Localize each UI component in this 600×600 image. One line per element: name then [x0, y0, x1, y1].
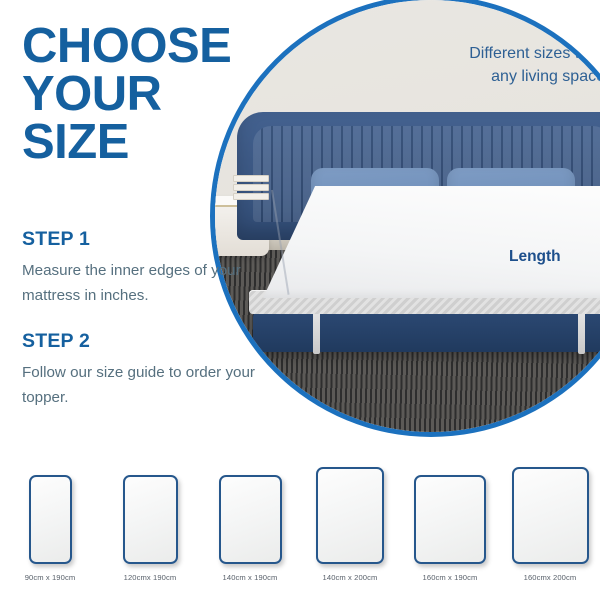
bed-base — [253, 308, 600, 352]
headline-line-1: CHOOSE — [22, 22, 282, 70]
size-option-2[interactable]: 120cmx 190cm — [100, 452, 200, 582]
size-swatch-box[interactable] — [316, 467, 384, 564]
step-1: STEP 1 Measure the inner edges of your m… — [22, 228, 272, 308]
size-option-6[interactable]: 160cmx 200cm — [500, 452, 600, 582]
tagline-line-2: any living space — [469, 65, 600, 88]
books-stack — [233, 175, 269, 197]
infographic-canvas: Different sizes to fit any living space … — [0, 0, 600, 600]
size-swatch-row: 90cm x 190cm120cmx 190cm140cm x 190cm140… — [0, 452, 600, 582]
size-swatch-label: 160cmx 200cm — [524, 573, 577, 582]
size-swatch-wrap — [512, 464, 589, 564]
mattress-topper-surface — [263, 186, 600, 298]
size-swatch-box[interactable] — [29, 475, 72, 564]
size-swatch-box[interactable] — [123, 475, 178, 564]
size-swatch-label: 120cmx 190cm — [124, 573, 177, 582]
size-swatch-box[interactable] — [219, 475, 282, 564]
size-swatch-wrap — [316, 464, 384, 564]
size-swatch-wrap — [123, 464, 178, 564]
size-option-3[interactable]: 140cm x 190cm — [200, 452, 300, 582]
photo-tagline: Different sizes to fit any living space — [469, 42, 600, 88]
headline-line-3: SIZE — [22, 118, 282, 166]
size-swatch-wrap — [414, 464, 486, 564]
steps-list: STEP 1 Measure the inner edges of your m… — [22, 228, 272, 432]
size-swatch-wrap — [29, 464, 72, 564]
size-swatch-box[interactable] — [414, 475, 486, 564]
headline-line-2: YOUR — [22, 70, 282, 118]
step-2: STEP 2 Follow our size guide to order yo… — [22, 330, 272, 410]
size-swatch-box[interactable] — [512, 467, 589, 564]
size-option-4[interactable]: 140cm x 200cm — [300, 452, 400, 582]
length-label: Length — [509, 248, 561, 266]
size-swatch-wrap — [219, 464, 282, 564]
page-title: CHOOSE YOUR SIZE — [22, 22, 282, 166]
size-option-1[interactable]: 90cm x 190cm — [0, 452, 100, 582]
size-swatch-label: 140cm x 190cm — [223, 573, 278, 582]
size-swatch-label: 140cm x 200cm — [323, 573, 378, 582]
step-2-body: Follow our size guide to order your topp… — [22, 360, 272, 410]
step-2-title: STEP 2 — [22, 330, 272, 353]
tagline-line-1: Different sizes to fit — [469, 42, 600, 65]
size-option-5[interactable]: 160cm x 190cm — [400, 452, 500, 582]
step-1-body: Measure the inner edges of your mattress… — [22, 258, 272, 308]
size-swatch-label: 90cm x 190cm — [25, 573, 76, 582]
step-1-title: STEP 1 — [22, 228, 272, 251]
size-swatch-label: 160cm x 190cm — [423, 573, 478, 582]
